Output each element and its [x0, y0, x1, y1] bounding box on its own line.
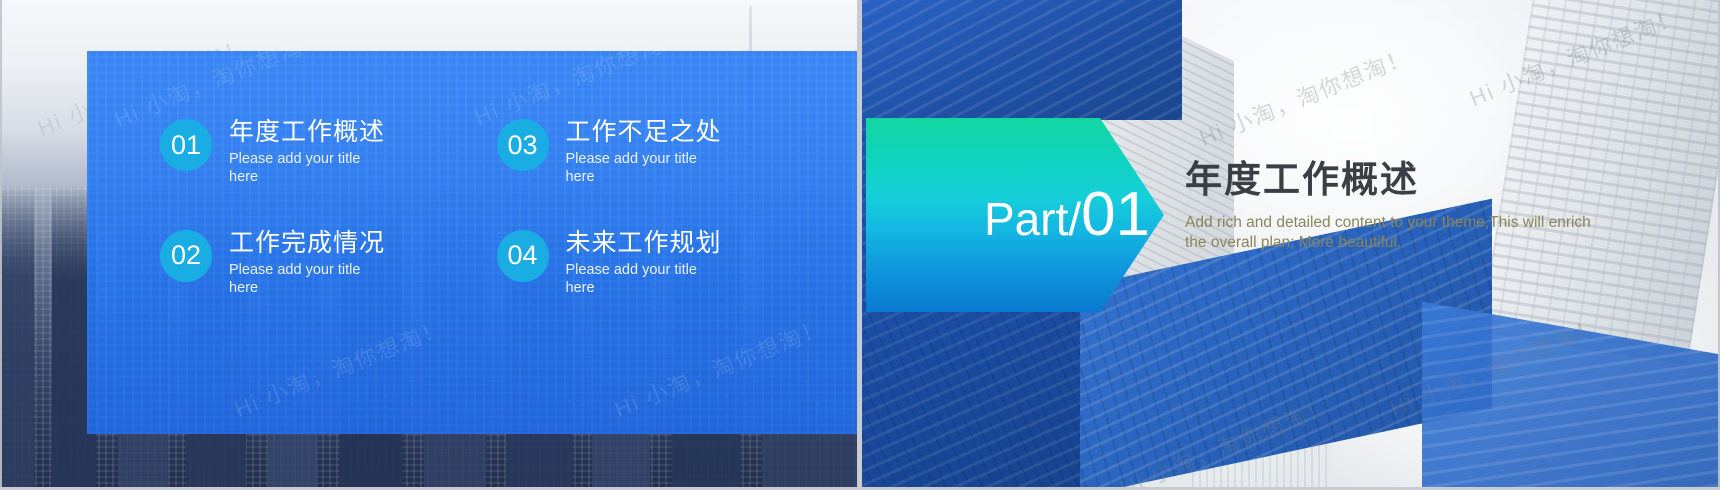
item-number-badge: 02 — [160, 230, 212, 282]
item-number-badge: 04 — [497, 230, 549, 282]
section-heading: 年度工作概述 — [1185, 158, 1675, 202]
item-title: 工作完成情况 — [229, 228, 385, 258]
arrow-label: Part/01 — [984, 184, 1150, 246]
item-title: 工作不足之处 — [566, 117, 722, 147]
item-subtitle: Please add your title here — [566, 261, 716, 297]
item-subtitle: Please add your title here — [229, 150, 379, 186]
item-title: 未来工作规划 — [566, 228, 722, 258]
slide-pair-canvas: Hi 小淘，淘你想淘！ Hi 小淘，淘你想淘！ CONTENTS Hi 小淘，淘… — [0, 0, 1720, 490]
item-subtitle: Please add your title here — [566, 150, 716, 186]
list-item[interactable]: 03 工作不足之处 Please add your title here — [497, 117, 828, 228]
slide-contents: Hi 小淘，淘你想淘！ Hi 小淘，淘你想淘！ CONTENTS Hi 小淘，淘… — [0, 0, 857, 490]
item-subtitle: Please add your title here — [229, 261, 379, 297]
list-item[interactable]: 02 工作完成情况 Please add your title here — [160, 228, 491, 339]
list-item[interactable]: 04 未来工作规划 Please add your title here — [497, 228, 828, 339]
item-title: 年度工作概述 — [229, 117, 385, 147]
arrow-prefix: Part/ — [984, 193, 1081, 245]
list-item[interactable]: 01 年度工作概述 Please add your title here — [160, 117, 491, 228]
section-body-text: Add rich and detailed content to your th… — [1185, 213, 1613, 253]
top-blue-band — [862, 0, 1182, 120]
slide-section-divider: Hi 小淘，淘你想淘！ Hi 小淘，淘你想淘！ Hi 小淘，淘你想淘！ Hi 小… — [862, 0, 1720, 490]
item-number-badge: 03 — [497, 119, 549, 171]
section-text-block: 年度工作概述 Add rich and detailed content to … — [1185, 158, 1675, 253]
arrow-number: 01 — [1081, 180, 1150, 249]
contents-card: Hi 小淘，淘你想淘！ Hi 小淘，淘你想淘！ Hi 小淘，淘你想淘！ Hi 小… — [87, 51, 857, 434]
slide-edge — [0, 0, 2, 490]
item-number-badge: 01 — [160, 119, 212, 171]
contents-item-grid: 01 年度工作概述 Please add your title here 03 … — [87, 51, 857, 434]
